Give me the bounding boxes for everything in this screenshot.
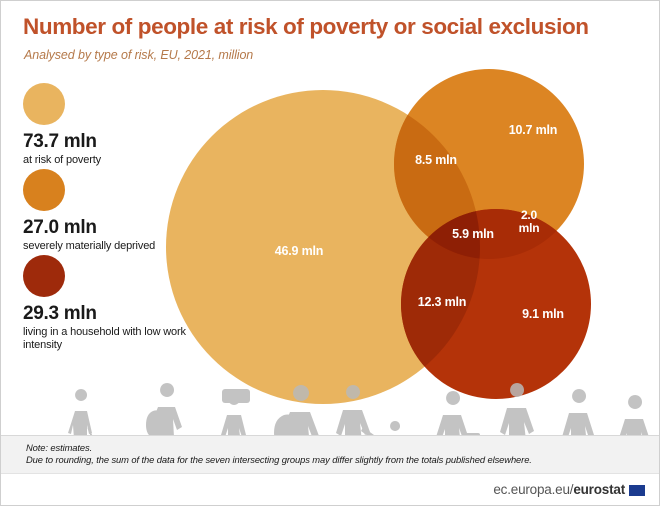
eurostat-brand: ec.europa.eu/eurostat: [493, 482, 625, 497]
venn-diagram: 46.9 mln 10.7 mln 8.5 mln 5.9 mln 2.0 ml…: [1, 1, 660, 461]
brand-prefix: ec.europa.eu/: [493, 482, 573, 497]
venn-label-poverty-work: 12.3 mln: [401, 295, 483, 309]
infographic-root: Number of people at risk of poverty or s…: [0, 0, 660, 506]
note-line-1: Note: estimates.: [26, 442, 92, 453]
venn-label-deprived-only: 10.7 mln: [493, 123, 573, 137]
venn-label-poverty-only: 46.9 mln: [254, 244, 344, 258]
venn-label-work-only: 9.1 mln: [508, 307, 578, 321]
venn-label-poverty-deprived: 8.5 mln: [396, 153, 476, 167]
eu-flag-icon: [629, 485, 645, 496]
footer-bar: ec.europa.eu/eurostat: [1, 473, 660, 506]
venn-label-deprived-work: 2.0 mln: [506, 209, 552, 236]
venn-label-poverty-deprived-work: 5.9 mln: [437, 227, 509, 241]
brand-name: eurostat: [573, 482, 625, 497]
footer-note: Note: estimates. Due to rounding, the su…: [1, 435, 660, 473]
note-line-2: Due to rounding, the sum of the data for…: [26, 454, 532, 465]
